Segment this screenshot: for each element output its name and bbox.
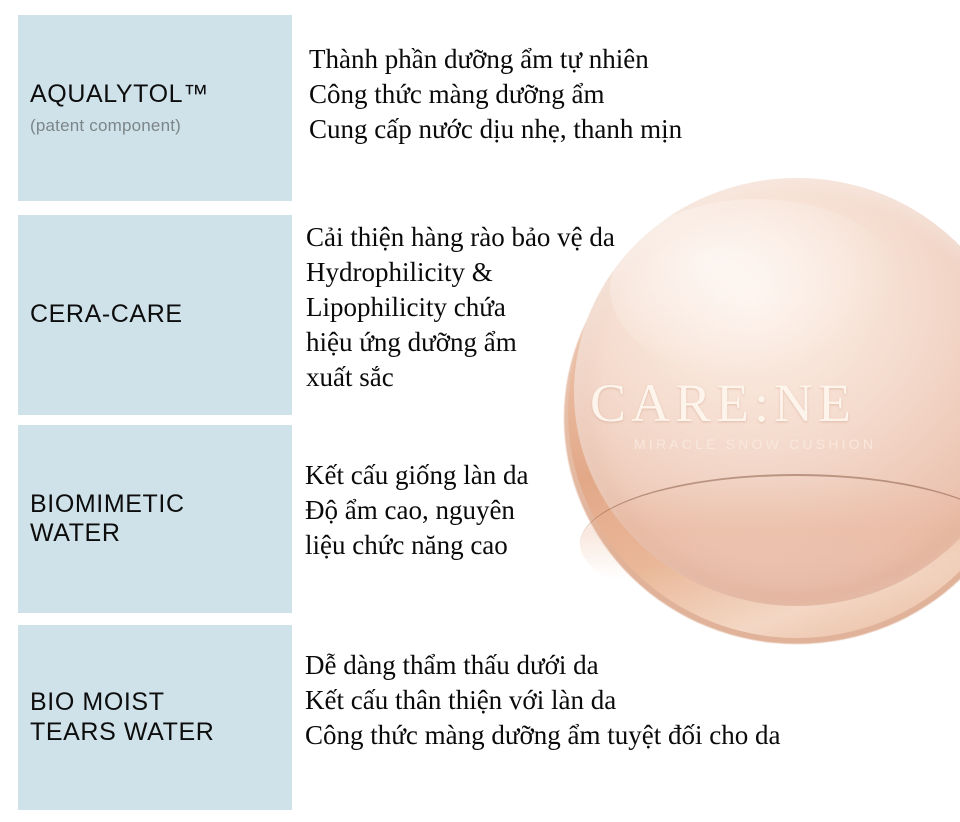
ingredient-label-box-cera-care: CERA-CARE: [18, 215, 292, 415]
ingredient-label-box-bio-moist-tears-water: BIO MOIST TEARS WATER: [18, 625, 292, 810]
compact-seam: [580, 474, 960, 614]
ingredient-label-title: BIOMIMETIC WATER: [30, 490, 292, 549]
ingredient-description-bio-moist-tears-water: Dễ dàng thẩm thấu dưới da Kết cấu thân t…: [305, 648, 780, 753]
ingredient-benefits-infographic: CARE:NE MIRACLE SNOW CUSHION AQUALYTOL™ …: [0, 0, 960, 822]
product-brand-name: CARE:NE: [590, 372, 960, 434]
product-sub-name: MIRACLE SNOW CUSHION: [634, 436, 876, 452]
ingredient-description-biomimetic-water: Kết cấu giống làn da Độ ẩm cao, nguyên l…: [305, 458, 528, 563]
ingredient-label-title: CERA-CARE: [30, 300, 292, 330]
compact-rim: [568, 188, 960, 638]
ingredient-label-box-aqualytol: AQUALYTOL™ (patent component): [18, 15, 292, 201]
ingredient-description-cera-care: Cải thiện hàng rào bảo vệ da Hydrophilic…: [306, 220, 615, 395]
ingredient-label-title: AQUALYTOL™: [30, 80, 292, 110]
product-branding: CARE:NE MIRACLE SNOW CUSHION: [564, 174, 960, 664]
ingredient-label-box-biomimetic-water: BIOMIMETIC WATER: [18, 425, 292, 613]
ingredient-description-aqualytol: Thành phần dưỡng ẩm tự nhiên Công thức m…: [309, 42, 682, 147]
compact-lid: [574, 178, 960, 606]
ingredient-label-title: BIO MOIST TEARS WATER: [30, 688, 292, 747]
compact-base: [564, 192, 960, 644]
ingredient-label-sublabel: (patent component): [30, 116, 292, 136]
product-image-cushion-compact: CARE:NE MIRACLE SNOW CUSHION: [564, 174, 960, 664]
